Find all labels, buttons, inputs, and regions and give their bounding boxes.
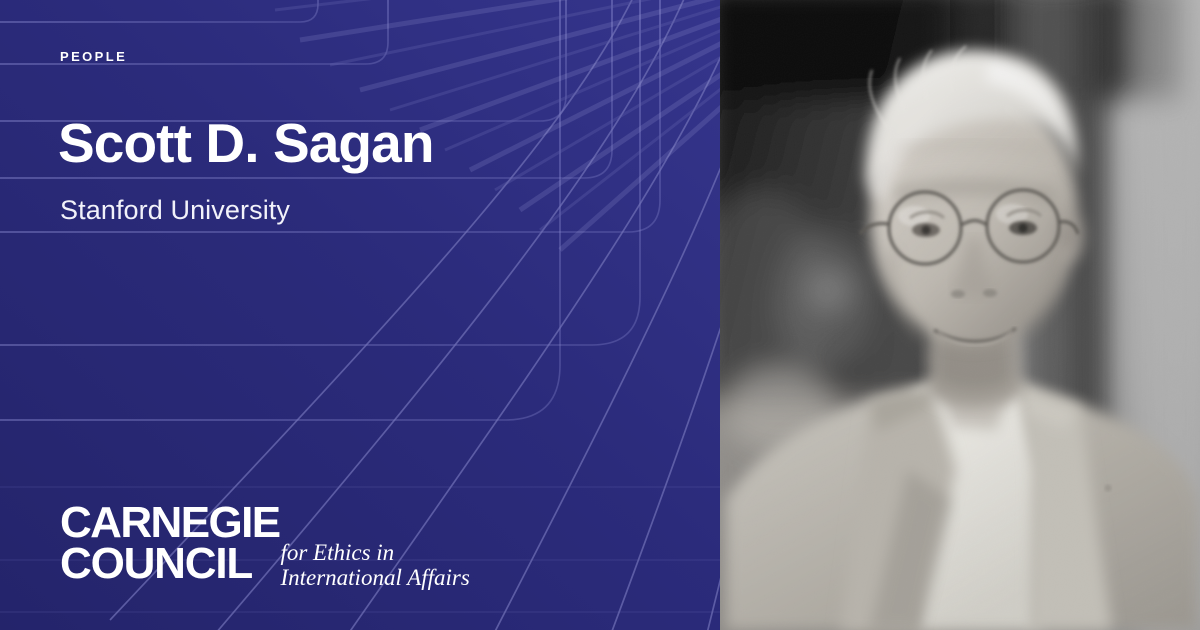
logo-word-council: COUNCIL: [60, 544, 279, 585]
category-eyebrow: PEOPLE: [60, 50, 127, 63]
logo-word-carnegie: CARNEGIE: [60, 503, 279, 544]
carnegie-council-logo[interactable]: CARNEGIE COUNCIL for Ethics in Internati…: [60, 503, 470, 591]
person-name-heading: Scott D. Sagan: [58, 114, 434, 173]
info-panel: PEOPLE Scott D. Sagan Stanford Universit…: [0, 0, 720, 630]
person-affiliation: Stanford University: [60, 194, 290, 226]
people-feature-card: PEOPLE Scott D. Sagan Stanford Universit…: [0, 0, 1200, 630]
logo-tagline-line-1: for Ethics in: [280, 541, 469, 566]
logo-tagline: for Ethics in International Affairs: [280, 541, 469, 591]
logo-wordmark: CARNEGIE COUNCIL: [60, 503, 279, 585]
logo-tagline-line-2: International Affairs: [280, 566, 469, 591]
portrait-photo: [720, 0, 1200, 630]
